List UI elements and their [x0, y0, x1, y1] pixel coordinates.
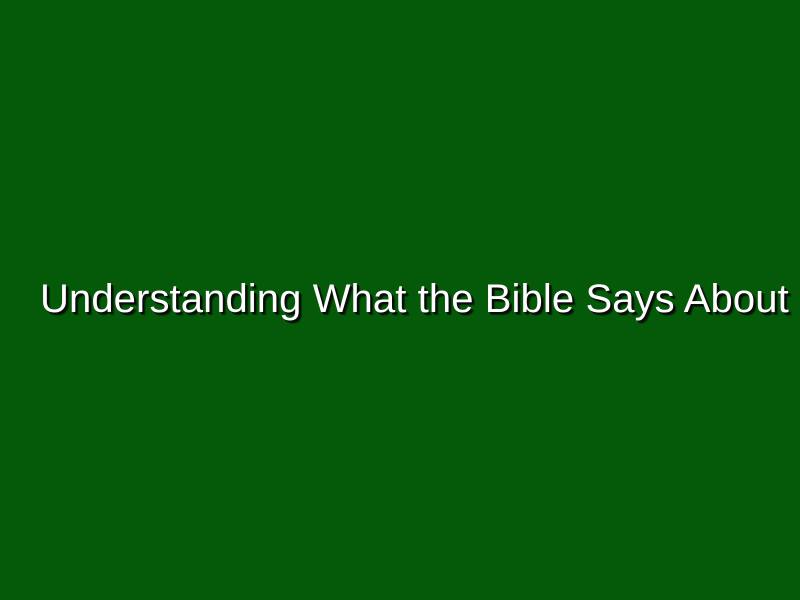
title-card: Understanding What the Bible Says About — [0, 0, 800, 600]
page-title: Understanding What the Bible Says About — [40, 276, 760, 323]
title-block: Understanding What the Bible Says About — [0, 276, 800, 323]
